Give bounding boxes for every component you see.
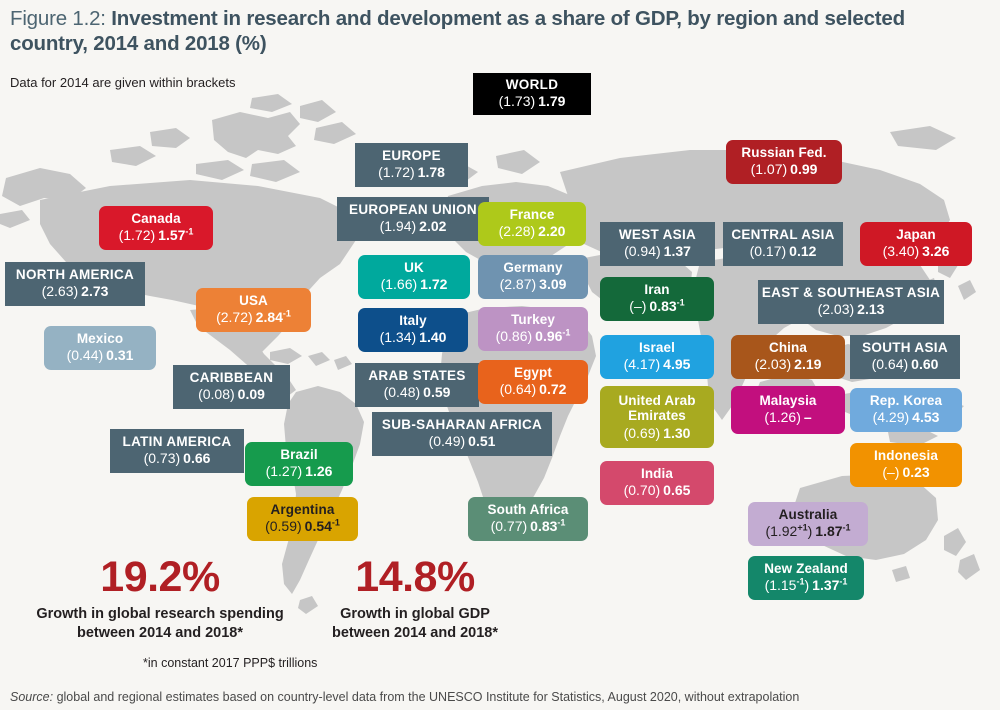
box-arab-states-label: ARAB STATES: [368, 369, 465, 383]
box-west-asia-label: WEST ASIA: [619, 228, 696, 242]
box-argentina[interactable]: Argentina (0.59)0.54-1: [247, 497, 358, 541]
box-north-america-values: (2.63)2.73: [42, 284, 109, 298]
box-caribbean-values: (0.08)0.09: [198, 387, 265, 401]
stat-research-spending: 19.2% Growth in global research spending…: [20, 556, 300, 642]
stat-research-spending-caption: Growth in global research spending betwe…: [20, 605, 300, 642]
box-brazil-label: Brazil: [280, 448, 317, 462]
value-2018: 2.73: [81, 283, 108, 299]
value-2018: 2.02: [419, 218, 446, 234]
source-note: Source: global and regional estimates ba…: [10, 690, 799, 704]
value-2014: (0.44): [67, 347, 104, 363]
box-sub-saharan-africa-values: (0.49)0.51: [429, 434, 496, 448]
box-japan-values: (3.40)3.26: [883, 244, 950, 258]
value-superscript: -1: [332, 518, 340, 528]
value-2018: 2.20: [538, 223, 565, 239]
box-indonesia-label: Indonesia: [874, 449, 938, 463]
value-2018: 0.72: [539, 381, 566, 397]
value-2018: –: [804, 409, 812, 425]
box-russian-federation-label: Russian Fed.: [741, 146, 826, 160]
box-europe-values: (1.72)1.78: [378, 165, 445, 179]
box-arab-states-values: (0.48)0.59: [384, 385, 451, 399]
value-2018: 1.40: [419, 329, 446, 345]
box-usa[interactable]: USA (2.72)2.84-1: [196, 288, 311, 332]
box-canada-label: Canada: [131, 212, 180, 226]
box-india-values: (0.70)0.65: [624, 483, 691, 497]
value-superscript: -1: [562, 328, 570, 338]
stat-research-spending-value: 19.2%: [20, 556, 300, 599]
value-2014: (3.40): [883, 243, 920, 259]
figure-title-text: Investment in research and development a…: [10, 7, 905, 55]
box-arab-states[interactable]: ARAB STATES (0.48)0.59: [355, 363, 479, 407]
value-2018: 0.51: [468, 433, 495, 449]
value-2014: (0.64): [872, 356, 909, 372]
value-2014: (1.27): [266, 463, 303, 479]
stat-global-gdp-value: 14.8%: [290, 556, 540, 599]
box-east-southeast-asia-label: EAST & SOUTHEAST ASIA: [762, 286, 940, 300]
box-usa-values: (2.72)2.84-1: [216, 310, 291, 324]
value-2018: 1.87: [815, 523, 842, 539]
box-egypt[interactable]: Egypt (0.64)0.72: [478, 360, 588, 404]
value-2018: 1.72: [420, 276, 447, 292]
box-china-values: (2.03)2.19: [755, 357, 822, 371]
value-2014: (0.94): [624, 243, 661, 259]
box-south-asia-label: SOUTH ASIA: [862, 341, 948, 355]
box-world-label: WORLD: [506, 78, 559, 92]
box-united-arab-emirates-label-line2: Emirates: [628, 408, 686, 424]
box-latin-america-values: (0.73)0.66: [144, 451, 211, 465]
value-2014: (2.87): [500, 276, 537, 292]
value-2018: 0.12: [789, 243, 816, 259]
box-rep-korea-values: (4.29)4.53: [873, 410, 940, 424]
box-uk-values: (1.66)1.72: [381, 277, 448, 291]
value-2018: 2.84: [256, 309, 283, 325]
box-united-arab-emirates-label: United Arab: [618, 393, 695, 409]
value-superscript: -1: [283, 309, 291, 319]
box-france[interactable]: France (2.28)2.20: [478, 202, 586, 246]
bracket-legend-note: Data for 2014 are given within brackets: [10, 75, 235, 90]
box-russian-federation[interactable]: Russian Fed. (1.07)0.99: [726, 140, 842, 184]
box-european-union[interactable]: EUROPEAN UNION (1.94)2.02: [337, 197, 489, 241]
value-superscript: -1: [185, 227, 193, 237]
box-mexico-values: (0.44)0.31: [67, 348, 134, 362]
value-2014-superscript: -1: [796, 577, 804, 587]
value-superscript: -1: [839, 577, 847, 587]
value-2018: 1.26: [305, 463, 332, 479]
box-indonesia-values: (–)0.23: [882, 465, 929, 479]
figure-label: Figure 1.2:: [10, 7, 106, 30]
box-east-southeast-asia[interactable]: EAST & SOUTHEAST ASIA (2.03)2.13: [758, 280, 944, 324]
box-india-label: India: [641, 467, 673, 481]
value-2018: 1.30: [663, 425, 690, 441]
box-south-africa[interactable]: South Africa (0.77)0.83-1: [468, 497, 588, 541]
value-superscript: -1: [557, 518, 565, 528]
box-rep-korea[interactable]: Rep. Korea (4.29)4.53: [850, 388, 962, 432]
value-2018: 1.79: [538, 93, 565, 109]
value-2018: 1.78: [418, 164, 445, 180]
value-2014: (0.17): [750, 243, 787, 259]
box-malaysia-values: (1.26)–: [764, 410, 811, 424]
box-israel-values: (4.17)4.95: [624, 357, 691, 371]
value-2014: (4.17): [624, 356, 661, 372]
value-2014: (0.73): [144, 450, 181, 466]
value-2014: (1.73): [499, 93, 536, 109]
value-2018: 0.23: [902, 464, 929, 480]
value-2014: (1.34): [380, 329, 417, 345]
box-australia[interactable]: Australia (1.92+1)1.87-1: [748, 502, 868, 546]
box-russian-federation-values: (1.07)0.99: [751, 162, 818, 176]
value-2018: 0.83: [649, 298, 676, 314]
box-turkey-values: (0.86)0.96-1: [496, 329, 571, 343]
box-central-asia-values: (0.17)0.12: [750, 244, 817, 258]
box-east-southeast-asia-values: (2.03)2.13: [818, 302, 885, 316]
box-iran[interactable]: Iran (–)0.83-1: [600, 277, 714, 321]
value-2018: 0.96: [535, 328, 562, 344]
box-new-zealand-values: (1.15-1)1.37-1: [765, 578, 848, 592]
box-france-label: France: [510, 208, 555, 222]
box-caribbean[interactable]: CARIBBEAN (0.08)0.09: [173, 365, 290, 409]
box-west-asia[interactable]: WEST ASIA (0.94)1.37: [600, 222, 715, 266]
box-australia-label: Australia: [779, 508, 838, 522]
value-2018: 1.57: [158, 227, 185, 243]
box-china[interactable]: China (2.03)2.19: [731, 335, 845, 379]
box-caribbean-label: CARIBBEAN: [190, 371, 274, 385]
value-2014: (1.94): [380, 218, 417, 234]
value-2014: (–): [629, 298, 646, 314]
constant-ppp-footnote: *in constant 2017 PPP$ trillions: [143, 656, 317, 670]
figure-header: Figure 1.2: Investment in research and d…: [10, 6, 970, 56]
value-2018: 1.37: [664, 243, 691, 259]
box-south-africa-values: (0.77)0.83-1: [491, 519, 566, 533]
value-2014: (0.64): [500, 381, 537, 397]
value-2014: (1.72): [119, 227, 156, 243]
box-central-asia-label: CENTRAL ASIA: [731, 228, 834, 242]
box-germany-values: (2.87)3.09: [500, 277, 567, 291]
value-2014: (2.03): [818, 301, 855, 317]
box-european-union-values: (1.94)2.02: [380, 219, 447, 233]
value-2014: (2.28): [499, 223, 536, 239]
box-south-asia[interactable]: SOUTH ASIA (0.64)0.60: [850, 335, 960, 379]
box-france-values: (2.28)2.20: [499, 224, 566, 238]
value-2014: (1.72): [378, 164, 415, 180]
value-2018: 0.59: [423, 384, 450, 400]
value-2018: 2.19: [794, 356, 821, 372]
value-2018: 3.09: [539, 276, 566, 292]
box-mexico-label: Mexico: [77, 332, 123, 346]
box-north-america[interactable]: NORTH AMERICA (2.63)2.73: [5, 262, 145, 306]
box-iran-values: (–)0.83-1: [629, 299, 684, 313]
value-2014: (0.49): [429, 433, 466, 449]
box-usa-label: USA: [239, 294, 268, 308]
value-superscript: -1: [677, 298, 685, 308]
box-south-africa-label: South Africa: [488, 503, 569, 517]
value-2018: 4.95: [663, 356, 690, 372]
value-2018: 0.99: [790, 161, 817, 177]
box-united-arab-emirates[interactable]: United Arab Emirates (0.69)1.30: [600, 386, 714, 448]
box-israel[interactable]: Israel (4.17)4.95: [600, 335, 714, 379]
box-turkey-label: Turkey: [511, 313, 555, 327]
box-central-asia[interactable]: CENTRAL ASIA (0.17)0.12: [723, 222, 843, 266]
value-2014: (4.29): [873, 409, 910, 425]
box-sub-saharan-africa[interactable]: SUB-SAHARAN AFRICA (0.49)0.51: [372, 412, 552, 456]
box-italy-values: (1.34)1.40: [380, 330, 447, 344]
value-superscript: -1: [843, 523, 851, 533]
box-north-america-label: NORTH AMERICA: [16, 268, 134, 282]
box-germany-label: Germany: [503, 261, 562, 275]
box-japan-label: Japan: [896, 228, 936, 242]
value-2014: (0.08): [198, 386, 235, 402]
box-brazil[interactable]: Brazil (1.27)1.26: [245, 442, 353, 486]
value-2018: 0.09: [238, 386, 265, 402]
box-new-zealand-label: New Zealand: [764, 562, 848, 576]
box-egypt-label: Egypt: [514, 366, 552, 380]
stat-global-gdp-caption: Growth in global GDP between 2014 and 20…: [290, 605, 540, 642]
box-argentina-values: (0.59)0.54-1: [265, 519, 340, 533]
box-europe-label: EUROPE: [382, 149, 441, 163]
value-2014: (–): [882, 464, 899, 480]
box-european-union-label: EUROPEAN UNION: [349, 203, 477, 217]
value-2014: (0.70): [624, 482, 661, 498]
value-2018: 0.60: [911, 356, 938, 372]
box-italy-label: Italy: [399, 314, 427, 328]
value-2018: 0.65: [663, 482, 690, 498]
box-mexico[interactable]: Mexico (0.44)0.31: [44, 326, 156, 370]
value-2018: 1.37: [812, 577, 839, 593]
box-europe[interactable]: EUROPE (1.72)1.78: [355, 143, 468, 187]
value-2018: 2.13: [857, 301, 884, 317]
box-rep-korea-label: Rep. Korea: [870, 394, 942, 408]
value-2014: (0.48): [384, 384, 421, 400]
source-label: Source:: [10, 690, 53, 704]
box-egypt-values: (0.64)0.72: [500, 382, 567, 396]
box-latin-america[interactable]: LATIN AMERICA (0.73)0.66: [110, 429, 244, 473]
value-2014: (1.66): [381, 276, 418, 292]
value-2014: (1.15: [765, 577, 797, 593]
box-australia-values: (1.92+1)1.87-1: [765, 524, 850, 538]
box-malaysia-label: Malaysia: [759, 394, 816, 408]
value-2014: (2.72): [216, 309, 253, 325]
value-2014: (0.77): [491, 518, 528, 534]
value-2014: (0.69): [624, 425, 661, 441]
box-germany[interactable]: Germany (2.87)3.09: [478, 255, 588, 299]
value-2018: 3.26: [922, 243, 949, 259]
box-world-values: (1.73)1.79: [499, 94, 566, 108]
box-world[interactable]: WORLD (1.73)1.79: [473, 73, 591, 115]
value-2018: 0.31: [106, 347, 133, 363]
box-malaysia[interactable]: Malaysia (1.26)–: [731, 386, 845, 434]
value-2014: (0.59): [265, 518, 302, 534]
value-2018: 0.66: [183, 450, 210, 466]
box-new-zealand[interactable]: New Zealand (1.15-1)1.37-1: [748, 556, 864, 600]
box-west-asia-values: (0.94)1.37: [624, 244, 691, 258]
box-canada[interactable]: Canada (1.72)1.57-1: [99, 206, 213, 250]
box-turkey[interactable]: Turkey (0.86)0.96-1: [478, 307, 588, 351]
value-2014: (0.86): [496, 328, 533, 344]
box-iran-label: Iran: [644, 283, 669, 297]
box-united-arab-emirates-values: (0.69)1.30: [624, 426, 691, 440]
box-canada-values: (1.72)1.57-1: [119, 228, 194, 242]
box-sub-saharan-africa-label: SUB-SAHARAN AFRICA: [382, 418, 542, 432]
box-uk-label: UK: [404, 261, 424, 275]
box-china-label: China: [769, 341, 807, 355]
value-2018: 4.53: [912, 409, 939, 425]
value-2018: 0.54: [305, 518, 332, 534]
value-2014-superscript: +1: [797, 523, 807, 533]
box-india[interactable]: India (0.70)0.65: [600, 461, 714, 505]
stat-global-gdp: 14.8% Growth in global GDP between 2014 …: [290, 556, 540, 642]
box-brazil-values: (1.27)1.26: [266, 464, 333, 478]
box-indonesia[interactable]: Indonesia (–)0.23: [850, 443, 962, 487]
box-uk[interactable]: UK (1.66)1.72: [358, 255, 470, 299]
value-2014: (1.92: [765, 523, 797, 539]
box-latin-america-label: LATIN AMERICA: [123, 435, 232, 449]
page-title: Figure 1.2: Investment in research and d…: [10, 6, 970, 56]
value-2014-close: ): [805, 577, 810, 593]
value-2014: (1.26): [764, 409, 801, 425]
value-2014: (2.03): [755, 356, 792, 372]
box-argentina-label: Argentina: [271, 503, 335, 517]
value-2014-close: ): [808, 523, 813, 539]
box-italy[interactable]: Italy (1.34)1.40: [358, 308, 468, 352]
value-2014: (2.63): [42, 283, 79, 299]
value-2014: (1.07): [751, 161, 788, 177]
box-south-asia-values: (0.64)0.60: [872, 357, 939, 371]
box-israel-label: Israel: [639, 341, 675, 355]
box-japan[interactable]: Japan (3.40)3.26: [860, 222, 972, 266]
source-text: global and regional estimates based on c…: [53, 690, 799, 704]
value-2018: 0.83: [530, 518, 557, 534]
